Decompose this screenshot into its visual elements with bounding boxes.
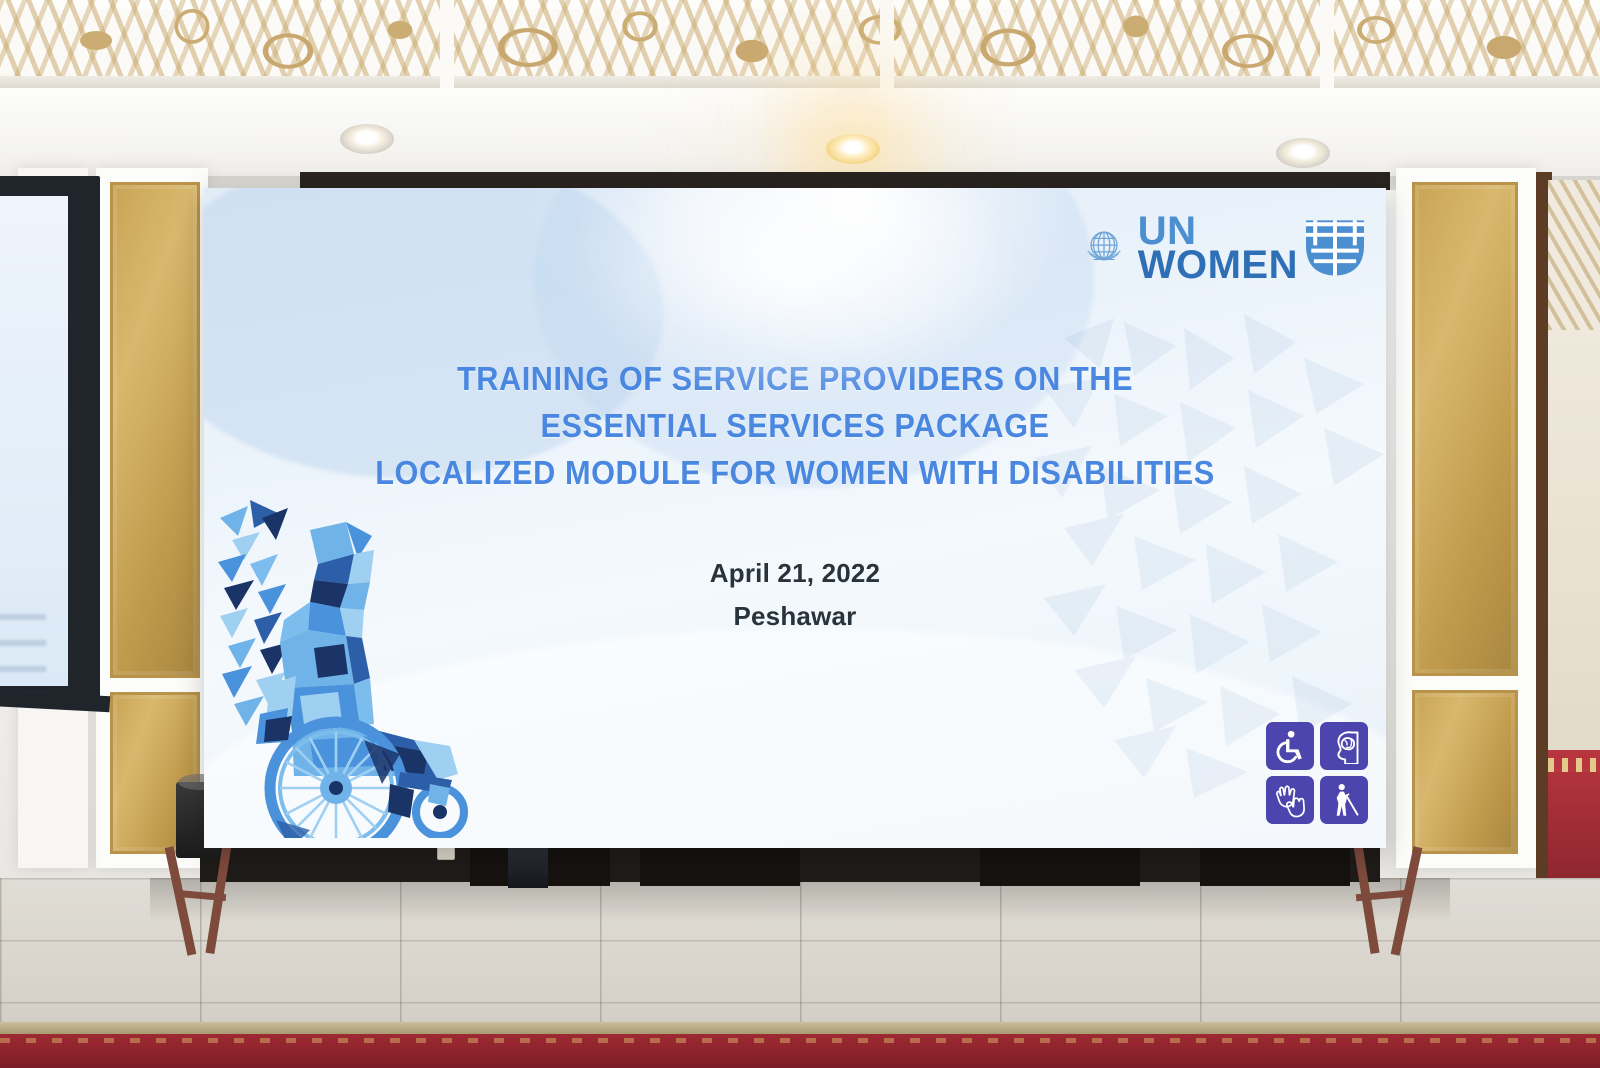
downlight-left-icon bbox=[340, 124, 394, 154]
cognitive-disability-icon bbox=[1320, 722, 1368, 770]
gold-wall-panel-right-lower bbox=[1412, 690, 1518, 854]
gold-arabesque-pattern bbox=[0, 0, 1600, 88]
ceiling-seam bbox=[1320, 0, 1334, 88]
riser-block bbox=[1200, 846, 1350, 886]
mosaic-wheelchair-figure-illustration bbox=[214, 488, 474, 838]
accessibility-icon-grid bbox=[1266, 722, 1368, 824]
un-women-wordmark: UN WOMEN bbox=[1138, 214, 1298, 283]
logo-word-women: WOMEN bbox=[1138, 248, 1298, 282]
ceiling-seam bbox=[880, 0, 894, 88]
corridor-doorway bbox=[1548, 180, 1600, 880]
floor-speaker bbox=[508, 848, 548, 888]
riser-block bbox=[980, 846, 1140, 886]
gold-wall-panel-right-upper bbox=[1412, 182, 1518, 676]
stage-edge-trim bbox=[0, 1022, 1600, 1034]
ceiling-bottom-strip bbox=[0, 76, 1600, 88]
downlight-right-icon bbox=[1276, 138, 1330, 168]
corridor-wall bbox=[1548, 330, 1600, 750]
gold-wall-panel-left-upper bbox=[110, 182, 200, 678]
projection-screen bbox=[0, 196, 68, 686]
corridor-ceiling bbox=[1548, 180, 1600, 330]
sign-language-icon bbox=[1266, 776, 1314, 824]
blind-white-cane-icon bbox=[1320, 776, 1368, 824]
event-banner: UN WOMEN TRAINING OF SERVICE PROVIDERS O… bbox=[204, 188, 1386, 848]
downlight-center-icon bbox=[826, 134, 880, 164]
un-women-basket-mark-icon bbox=[1302, 215, 1368, 281]
ceiling-ornamental-band bbox=[0, 0, 1600, 91]
title-line-1: TRAINING OF SERVICE PROVIDERS ON THE bbox=[329, 356, 1261, 403]
riser-block bbox=[640, 846, 800, 886]
banner-title-block: TRAINING OF SERVICE PROVIDERS ON THE ESS… bbox=[204, 356, 1386, 497]
wheelchair-access-icon bbox=[1266, 722, 1314, 770]
red-carpet-runner bbox=[0, 1034, 1600, 1068]
un-globe-emblem-icon bbox=[1080, 224, 1128, 272]
ceiling-seam bbox=[440, 0, 454, 88]
title-line-2: ESSENTIAL SERVICES PACKAGE bbox=[329, 403, 1261, 450]
corridor-carpet bbox=[1548, 750, 1600, 880]
soffit-beam bbox=[836, 88, 870, 122]
projected-slide-text bbox=[0, 604, 46, 694]
event-photo-scene: UN WOMEN TRAINING OF SERVICE PROVIDERS O… bbox=[0, 0, 1600, 1068]
un-women-logo: UN WOMEN bbox=[1080, 214, 1368, 283]
